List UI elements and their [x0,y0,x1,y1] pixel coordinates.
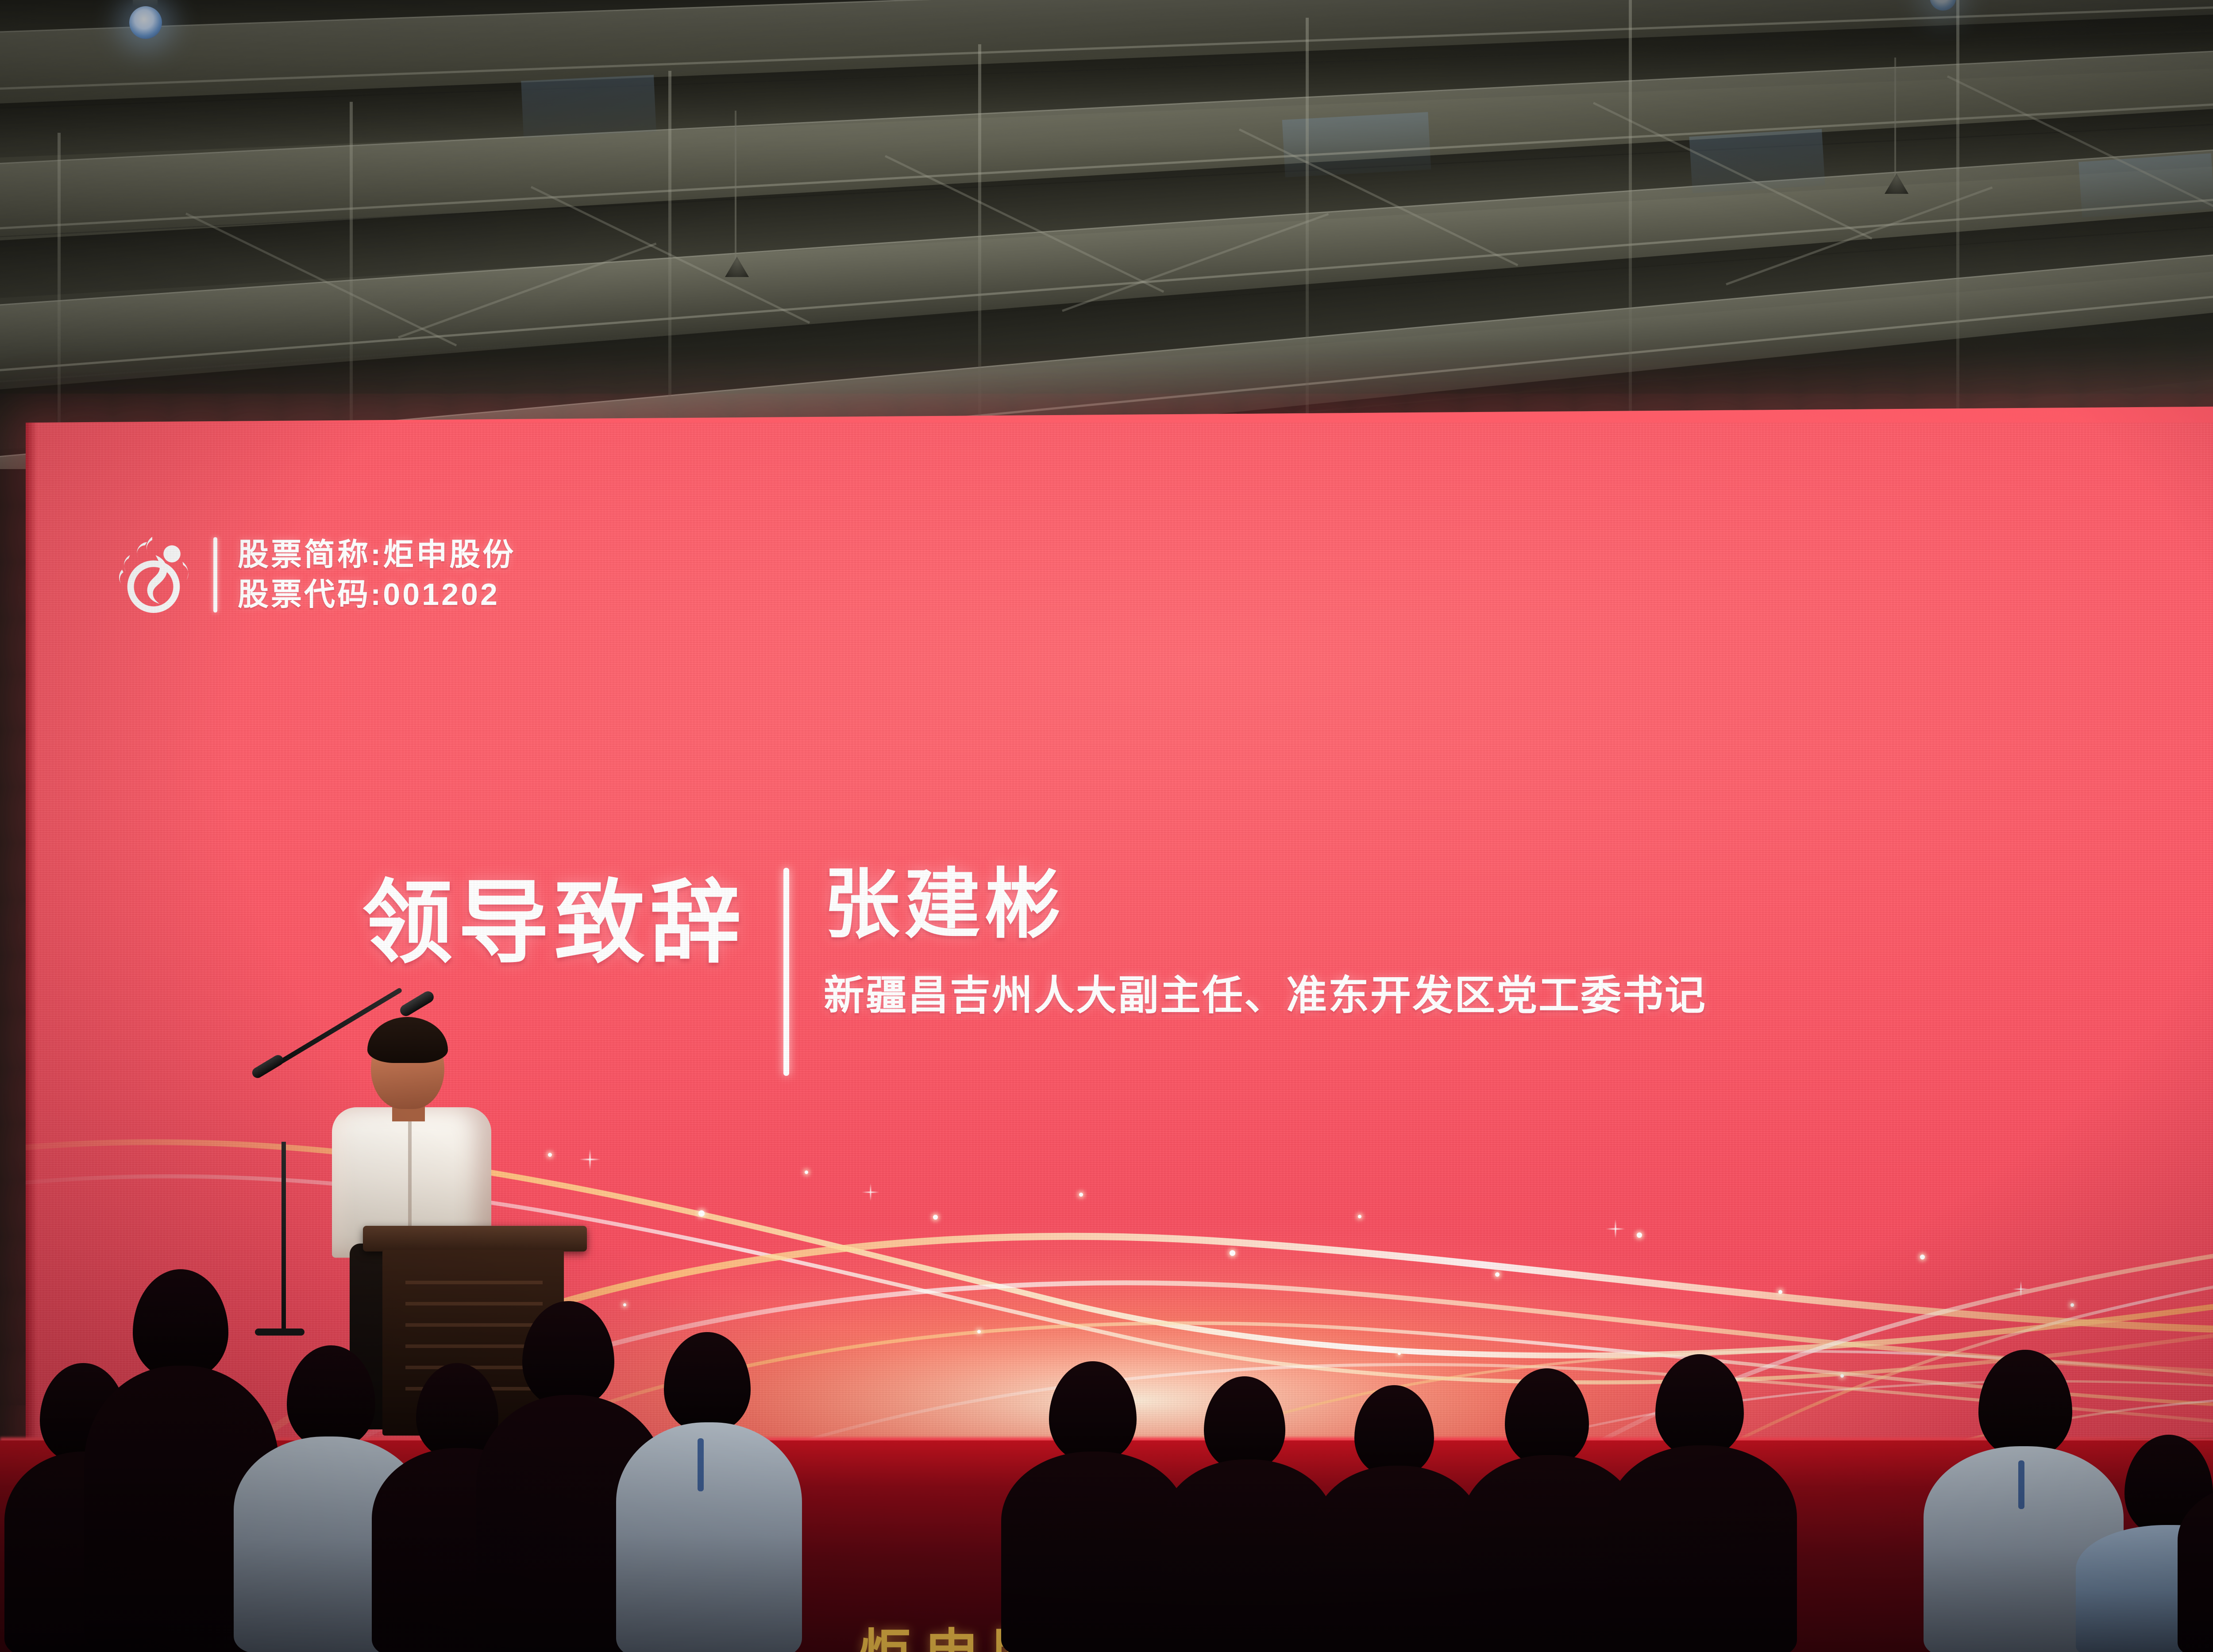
jushen-logo-icon [114,535,193,614]
stock-code-line: 股票代码:001202 [238,578,516,612]
stock-info-header: 股票简称:炬申股份 股票代码:001202 [114,535,516,614]
speaker-name: 张建彬 [824,865,1707,944]
banner-text: 炬申股份 [859,1611,1124,1652]
hall-ceiling [0,0,2213,469]
lamp-housing [133,0,158,6]
speaker-at-podium [266,996,602,1438]
podium [371,1226,579,1434]
microphone-stand [281,1142,286,1332]
event-photo-scene: 股票简称:炬申股份 股票代码:001202 领导致辞 张建彬 新疆昌吉州人大副主… [0,0,2213,1652]
main-title: 领导致辞 [362,878,746,968]
header-divider [213,537,217,612]
title-divider [783,868,789,1076]
stock-name-line: 股票简称:炬申股份 [238,538,516,572]
ceiling-lamp-icon [129,6,162,39]
speaker-title: 新疆昌吉州人大副主任、准东开发区党工委书记 [824,972,1707,1020]
